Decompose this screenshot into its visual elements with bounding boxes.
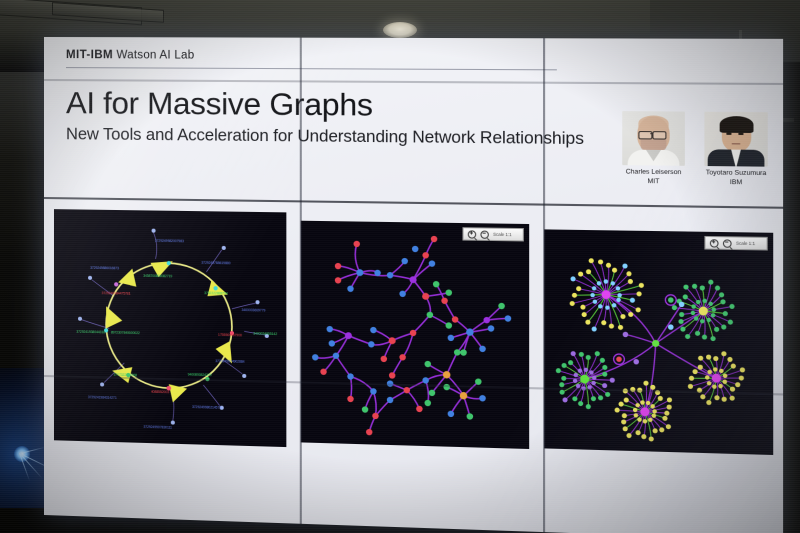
hub-leaf-node	[609, 324, 614, 329]
hub-leaf-node	[730, 387, 735, 392]
graph-node-label: 9400893824209	[188, 372, 212, 377]
hub-leaf-node	[714, 395, 719, 400]
hub-leaf-node	[589, 258, 594, 263]
hub-leaf-node	[739, 376, 744, 381]
hub-inner-node	[643, 419, 648, 423]
zoom-out-icon[interactable]	[723, 239, 732, 247]
avatar	[622, 111, 685, 166]
hub-leaf-node	[578, 401, 583, 406]
zoom-scale-label: Scale 1:1	[493, 232, 512, 237]
bezel-seam-horizontal	[44, 79, 783, 85]
hub-leaf-node	[586, 355, 591, 360]
hub-leaf-node	[586, 404, 591, 409]
graph-node-label: 3729249982007983	[155, 239, 184, 243]
hub-inner-node	[604, 279, 609, 283]
hub-leaf-node	[618, 325, 623, 330]
avatar	[704, 112, 767, 167]
hub-leaf-node	[598, 259, 603, 264]
hub-leaf-node	[602, 383, 607, 388]
hub-leaf-node	[698, 356, 703, 361]
hub-leaf-node	[714, 327, 719, 332]
graph-node-label: 4088552003	[151, 390, 169, 394]
hub-leaf-node	[683, 294, 688, 299]
hub-leaf-node	[683, 285, 688, 290]
hub-leaf-node	[727, 357, 732, 362]
panel-tree-network[interactable]: Scale 1:1	[301, 221, 529, 449]
speaker-card: Charles Leiserson MIT	[622, 111, 685, 187]
hub-leaf-node	[728, 320, 733, 325]
hub-leaf-node	[639, 283, 644, 288]
hub-leaf-node	[667, 405, 672, 410]
hub-leaf-node	[628, 279, 633, 284]
hub-inner-node	[723, 374, 728, 378]
speaker-affiliation: IBM	[704, 178, 767, 188]
hub-leaf-node	[643, 381, 648, 386]
hub-leaf-node	[560, 390, 565, 395]
page-title: AI for Massive Graphs	[66, 85, 373, 124]
hub-inner-node	[708, 302, 713, 306]
hub-leaf-node	[678, 319, 683, 324]
hub-leaf-node	[615, 408, 620, 413]
hub-leaf-node	[572, 293, 577, 298]
graph-node-label: 3752222888794	[204, 291, 228, 296]
hub-leaf-node	[586, 269, 591, 274]
hub-inner-node	[706, 318, 711, 322]
viewport-toolbar[interactable]: Scale 1:1	[462, 227, 523, 241]
hub-leaf-node	[630, 298, 635, 303]
hub-inner-node	[712, 384, 717, 388]
bridge-node	[668, 324, 674, 330]
hub-leaf-node	[735, 382, 740, 387]
graph-node-label: 3400054055142	[253, 332, 277, 337]
hub-leaf-node	[635, 430, 640, 435]
video-wall: MIT-IBM Watson AI Lab AI for Massive Gra…	[44, 37, 783, 533]
hub-inner-node	[696, 300, 701, 304]
hub-inner-node	[591, 381, 596, 385]
hub-inner-node	[719, 369, 724, 373]
hub-leaf-node	[722, 397, 727, 402]
speaker-name: Charles Leiserson	[622, 168, 685, 178]
hub-leaf-node	[578, 272, 583, 277]
hub-leaf-node	[612, 268, 617, 273]
hub-leaf-node	[649, 436, 654, 441]
graph-node-label: 3458700828082719	[143, 273, 172, 278]
hub-leaf-node	[664, 411, 669, 416]
bezel-seam-horizontal	[44, 197, 783, 209]
hub-leaf-node	[713, 356, 718, 361]
hub-leaf-node	[653, 428, 658, 433]
hub-clusters-svg	[544, 229, 773, 455]
recessed-downlight-icon	[383, 22, 417, 38]
hub-leaf-node	[576, 286, 581, 291]
bridge-node	[623, 332, 629, 338]
bezel-seam-vertical	[543, 38, 545, 532]
hub-leaf-node	[621, 419, 626, 424]
hub-inner-node	[590, 293, 595, 297]
hub-leaf-node	[679, 312, 684, 317]
speaker-affiliation: MIT	[622, 177, 685, 187]
speaker-name: Toyotaro Suzumura	[704, 169, 767, 179]
hub-inner-node	[691, 311, 696, 315]
graph-node-label: 3729241938044318	[76, 330, 105, 335]
hub-leaf-node	[672, 305, 677, 310]
hub-leaf-node	[692, 284, 697, 289]
hub-leaf-node	[667, 397, 672, 402]
page-subtitle: New Tools and Acceleration for Understan…	[66, 125, 584, 149]
brand-bold: MIT-IBM	[66, 49, 113, 61]
hub-leaf-node	[636, 291, 641, 296]
hub-leaf-node	[571, 276, 576, 281]
graph-node-label: 3729241984314271	[88, 395, 117, 400]
hub-leaf-node	[715, 285, 720, 290]
hub-leaf-node	[622, 413, 627, 418]
zoom-in-icon[interactable]	[468, 230, 476, 238]
hub-leaf-node	[700, 285, 705, 290]
hub-leaf-node	[740, 367, 745, 372]
hub-inner-node	[702, 299, 707, 303]
hub-leaf-node	[605, 392, 610, 397]
hub-leaf-node	[562, 363, 567, 368]
hub-leaf-node	[592, 327, 597, 332]
hub-leaf-node	[720, 299, 725, 304]
hub-leaf-node	[606, 263, 611, 268]
hub-leaf-node	[622, 263, 627, 268]
hub-leaf-node	[689, 376, 694, 381]
hub-inner-node	[640, 400, 645, 404]
hub-leaf-node	[559, 382, 564, 387]
hub-leaf-node	[602, 372, 607, 377]
graph-node-label: 3729249980214573	[192, 405, 221, 410]
hub-leaf-node	[702, 335, 707, 340]
hub-leaf-node	[729, 304, 734, 309]
hub-leaf-node	[571, 351, 576, 356]
hub-leaf-node	[624, 397, 629, 402]
graph-node-label: 3729249788619880	[201, 261, 230, 266]
conference-room-scene: MIT-IBM Watson AI Lab AI for Massive Gra…	[0, 0, 800, 533]
hub-leaf-node	[579, 352, 584, 357]
hub-leaf-node	[580, 305, 585, 310]
hub-inner-node	[611, 281, 616, 285]
cycle-graph-svg	[54, 209, 286, 447]
bridge-node	[616, 356, 622, 362]
hub-inner-node	[712, 307, 717, 311]
graph-node-label: 3729240984475781	[102, 291, 131, 296]
hub-inner-node	[700, 319, 705, 323]
graph-node-label: 3400003669779	[241, 308, 265, 313]
brand-rest: Watson AI Lab	[113, 49, 194, 61]
hub-inner-node	[592, 286, 597, 290]
speaker-card: Toyotaro Suzumura IBM	[704, 112, 767, 188]
hub-leaf-node	[561, 376, 566, 381]
hub-leaf-node	[595, 351, 600, 356]
hub-leaf-node	[708, 280, 713, 285]
hub-leaf-node	[706, 400, 711, 405]
hub-leaf-node	[695, 331, 700, 336]
hub-leaf-node	[662, 416, 667, 421]
tree-network-svg	[301, 221, 529, 449]
hub-leaf-node	[601, 320, 606, 325]
graph-node-label: 3729249886016873	[90, 266, 119, 271]
hub-leaf-node	[619, 402, 624, 407]
graph-node-label: 3729249974902884	[215, 359, 244, 364]
hub-leaf-node	[591, 396, 596, 401]
hub-leaf-node	[723, 311, 728, 316]
graph-node-label: 3729249907830111	[143, 425, 171, 430]
graph-node-label: 1755504657900	[218, 333, 242, 338]
hub-leaf-node	[666, 424, 671, 429]
presentation-slide: MIT-IBM Watson AI Lab AI for Massive Gra…	[44, 37, 783, 533]
hub-leaf-node	[721, 325, 726, 330]
hub-leaf-node	[692, 369, 697, 374]
hub-leaf-node	[598, 395, 603, 400]
zoom-out-icon[interactable]	[480, 230, 488, 238]
zoom-scale-label: Scale 1:1	[736, 241, 755, 247]
hub-leaf-node	[721, 351, 726, 356]
bridge-node	[668, 297, 674, 303]
hub-leaf-node	[620, 314, 625, 319]
panel-hub-clusters[interactable]: Scale 1:1	[544, 229, 773, 455]
hub-leaf-node	[659, 427, 664, 432]
hub-leaf-node	[636, 307, 641, 312]
hub-leaf-node	[706, 355, 711, 360]
bridge-node	[633, 359, 639, 365]
graph-node-label: 8972307840600022	[111, 331, 140, 336]
speaker-list: Charles Leiserson MIT Toyotaro Suzumura …	[622, 111, 768, 188]
hub-leaf-node	[568, 360, 573, 365]
hub-leaf-node	[641, 434, 646, 439]
header-divider	[66, 67, 557, 70]
bezel-seam-vertical	[300, 38, 302, 524]
hub-leaf-node	[710, 336, 715, 341]
hub-leaf-node	[730, 396, 735, 401]
hub-inner-node	[652, 413, 657, 417]
hub-inner-node	[691, 304, 696, 308]
hub-leaf-node	[556, 368, 561, 373]
hub-inner-node	[723, 380, 728, 385]
panel-cycle-graph[interactable]: 3729249982007983372924988601687337292497…	[54, 209, 286, 447]
hub-inner-node	[635, 403, 640, 407]
zoom-in-icon[interactable]	[710, 239, 719, 247]
slide-header: MIT-IBM Watson AI Lab	[66, 49, 194, 62]
hub-leaf-node	[688, 384, 693, 389]
viewport-toolbar[interactable]: Scale 1:1	[704, 236, 767, 251]
hub-inner-node	[597, 281, 602, 285]
hub-leaf-node	[610, 378, 615, 383]
hub-leaf-node	[570, 301, 575, 306]
